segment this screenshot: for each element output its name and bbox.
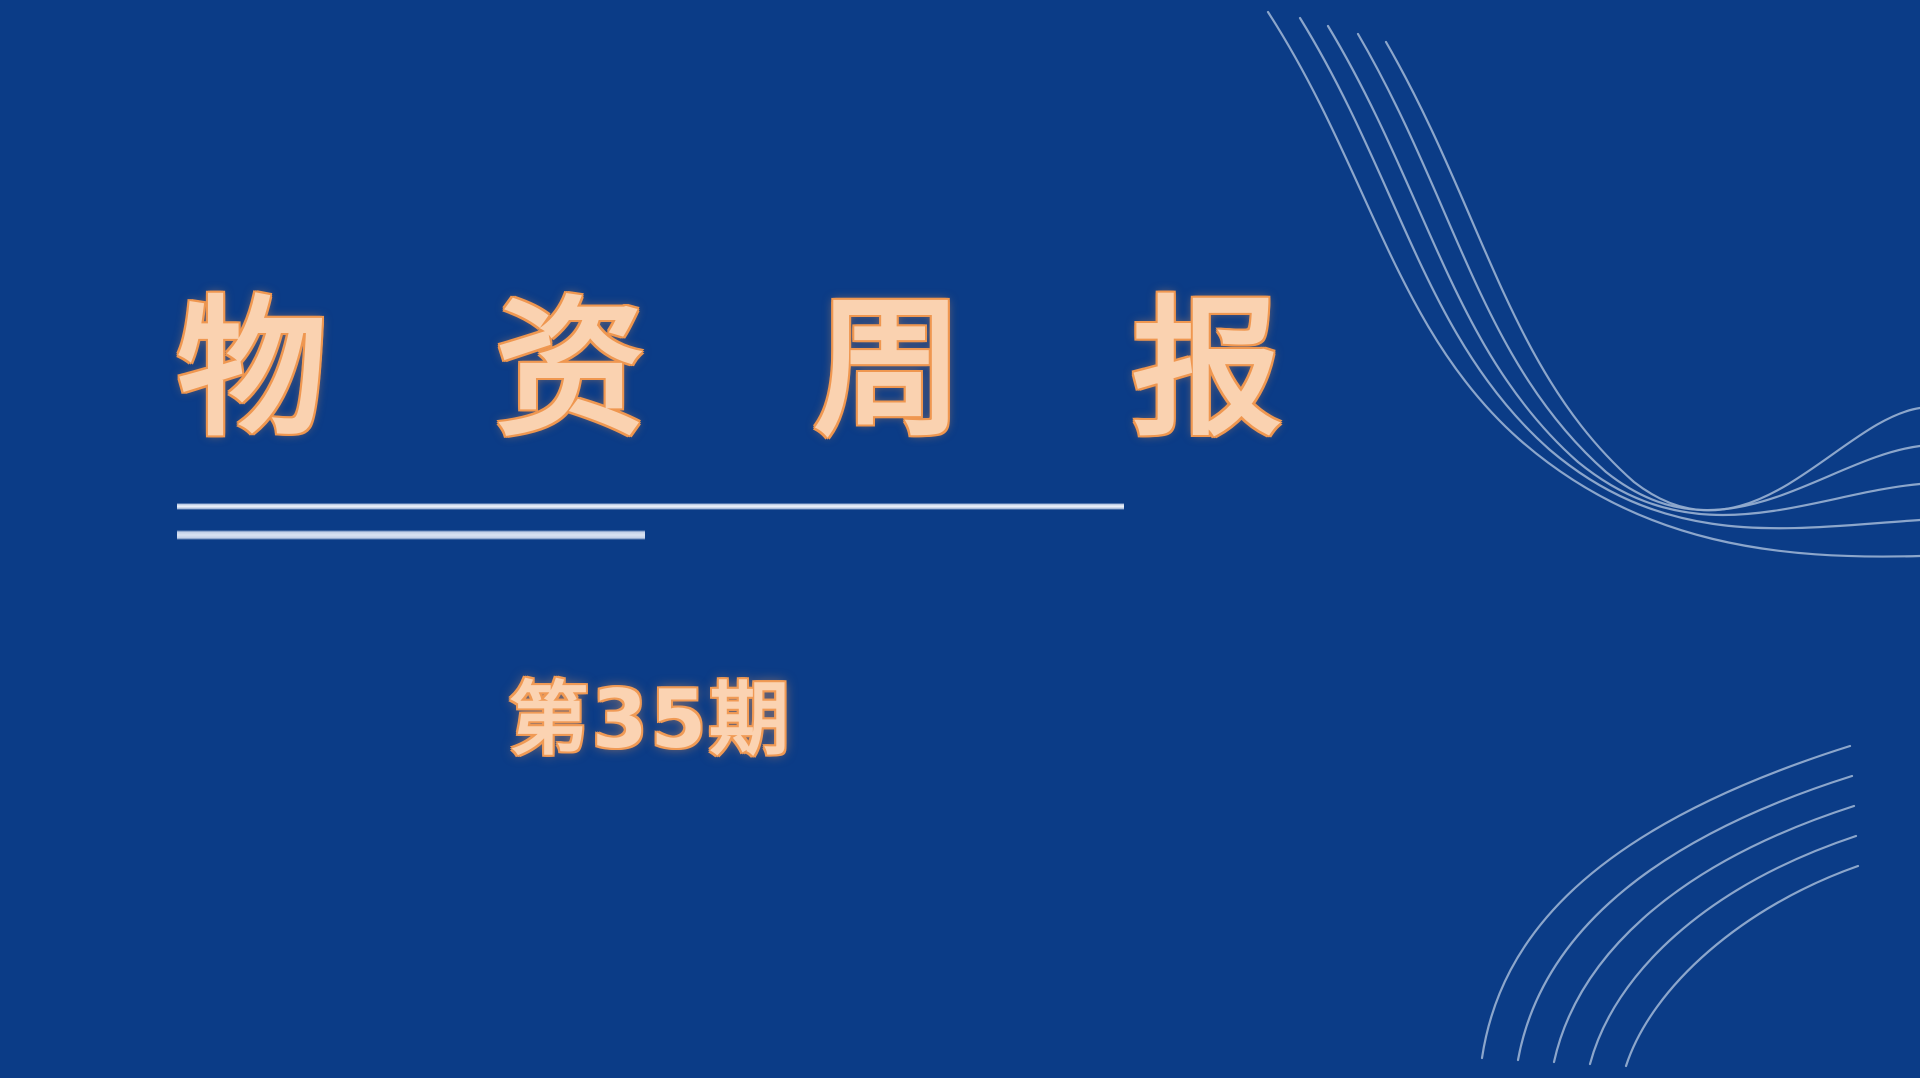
curve-line-2 [1300,18,1920,528]
issue-subtitle: 第35期 [177,655,1124,771]
arc-line-4 [1590,836,1856,1064]
curve-line-3 [1328,26,1920,515]
page-title: 物 资 周 报 [177,286,1177,454]
decorative-curves-bottom-right [1460,718,1920,1078]
curve-line-1 [1268,12,1920,557]
slide-canvas: 物 资 周 报 第35期 [0,0,1920,1078]
arc-line-2 [1518,776,1852,1060]
arc-line-1 [1482,746,1850,1058]
curve-line-4 [1358,34,1920,510]
title-block: 物 资 周 报 [177,286,1177,454]
title-underline-short [177,530,645,540]
arc-line-3 [1554,806,1854,1062]
title-underline-long [177,503,1124,510]
curve-group-bottom-right [1460,718,1920,1078]
arc-line-5 [1626,866,1858,1066]
curve-line-5 [1386,42,1920,510]
